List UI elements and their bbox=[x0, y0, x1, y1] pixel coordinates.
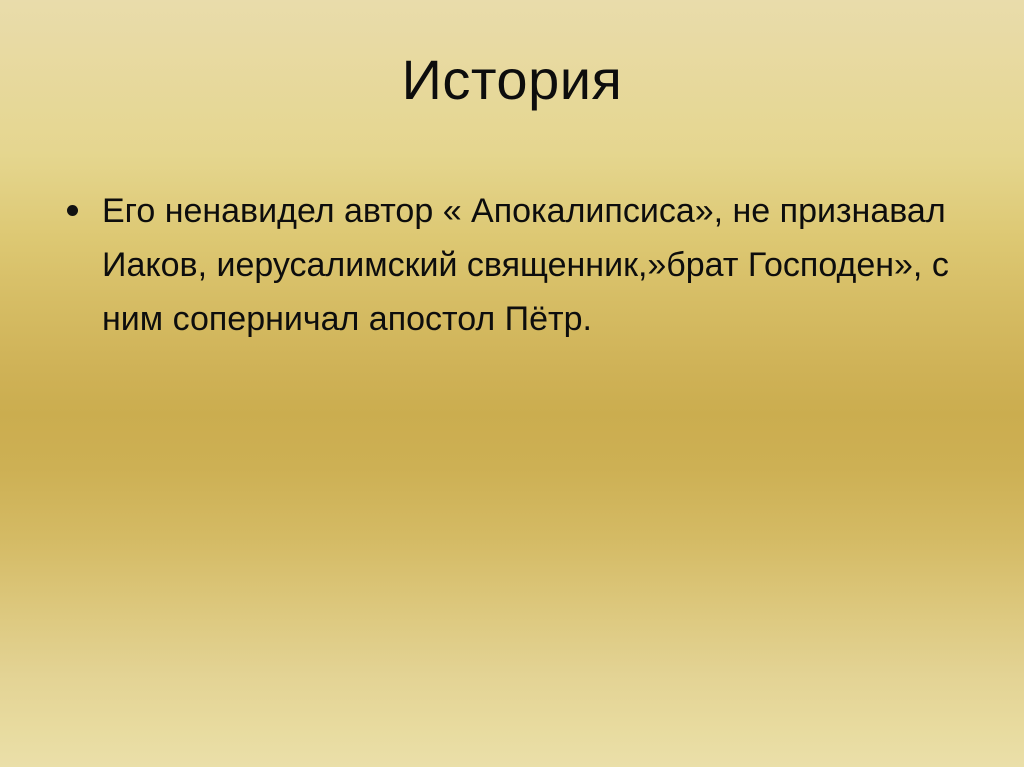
list-item-text: Его ненавидел автор « Апокалипсиса», не … bbox=[102, 184, 958, 346]
slide-title-block: История bbox=[0, 50, 1024, 110]
bullet-disc-icon bbox=[67, 205, 78, 216]
slide-body-block: Его ненавидел автор « Апокалипсиса», не … bbox=[58, 184, 958, 346]
list-item: Его ненавидел автор « Апокалипсиса», не … bbox=[58, 184, 958, 346]
slide-canvas: История Его ненавидел автор « Апокалипси… bbox=[0, 0, 1024, 767]
page-title: История bbox=[402, 50, 623, 110]
bullet-list: Его ненавидел автор « Апокалипсиса», не … bbox=[58, 184, 958, 346]
